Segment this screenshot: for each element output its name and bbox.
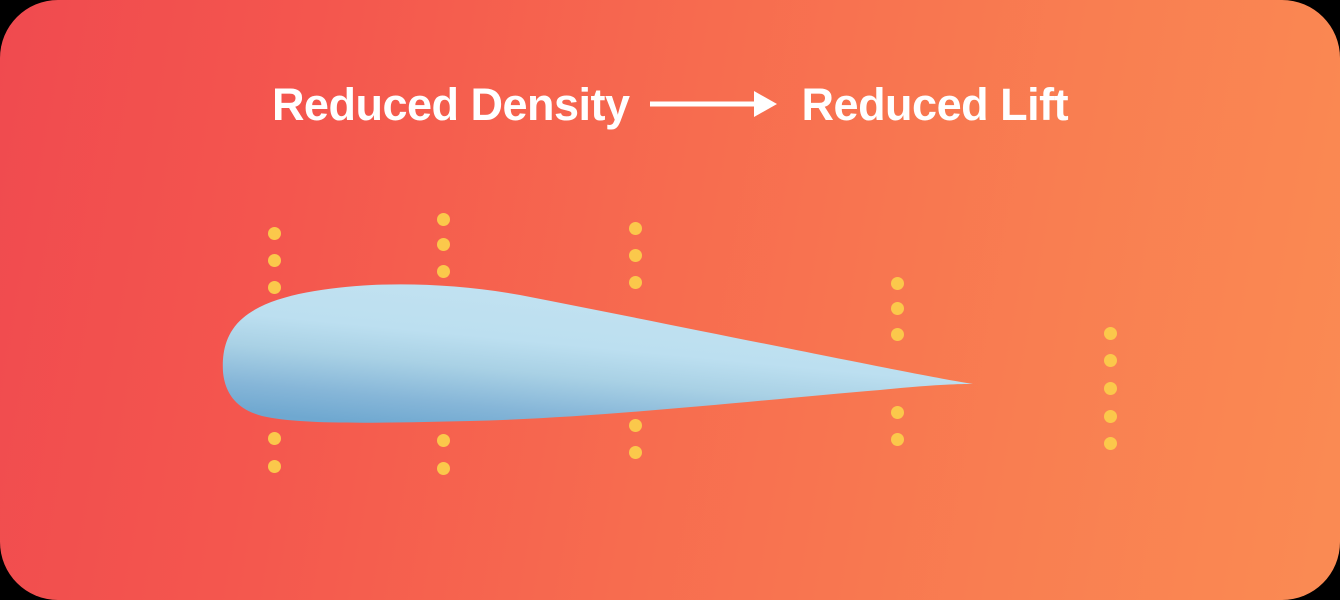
air-particle	[1104, 382, 1117, 395]
air-particle	[891, 328, 904, 341]
air-particle	[437, 462, 450, 475]
air-particle	[629, 446, 642, 459]
air-particle	[268, 460, 281, 473]
air-particle	[891, 406, 904, 419]
air-particle	[268, 227, 281, 240]
air-particle	[1104, 437, 1117, 450]
air-particle	[437, 238, 450, 251]
air-particle	[268, 432, 281, 445]
air-particle	[268, 281, 281, 294]
air-particle	[1104, 410, 1117, 423]
air-particle	[629, 276, 642, 289]
air-particle	[629, 249, 642, 262]
diagram-card: Reduced Density Reduced Lift	[0, 0, 1340, 600]
air-particle	[1104, 354, 1117, 367]
airfoil-shape	[223, 284, 976, 422]
air-particle	[629, 419, 642, 432]
air-particle	[629, 222, 642, 235]
air-particle	[437, 434, 450, 447]
airfoil-cross-section	[0, 0, 1340, 600]
air-particle	[891, 277, 904, 290]
airflow-diagram-stage	[0, 0, 1340, 600]
air-particle	[1104, 327, 1117, 340]
air-particle	[437, 265, 450, 278]
air-particle	[268, 254, 281, 267]
air-particle	[437, 213, 450, 226]
air-particle	[891, 302, 904, 315]
air-particle	[891, 433, 904, 446]
